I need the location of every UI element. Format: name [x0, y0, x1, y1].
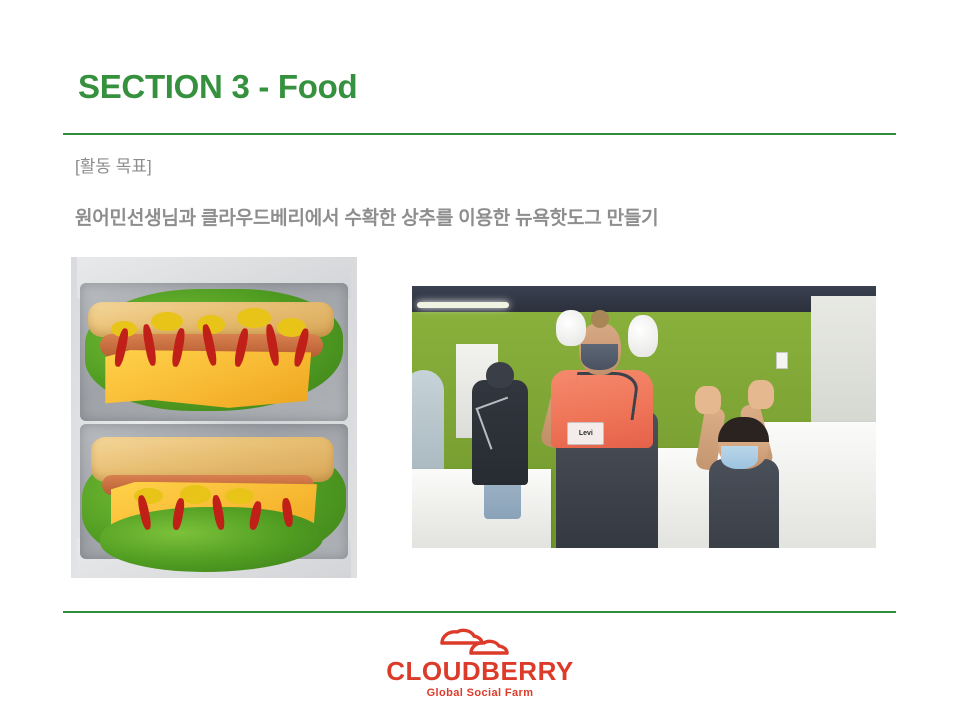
classroom-photo: Levi [412, 286, 876, 548]
instructor-hair-bun [591, 310, 610, 328]
child-hand-left [695, 386, 721, 415]
light-switch [776, 352, 787, 370]
logo-wordmark: CLOUDBERRY [386, 658, 573, 684]
mustard-dollop [151, 312, 182, 331]
background-person-head [486, 362, 514, 388]
child-body [709, 459, 779, 548]
glove-right [628, 315, 658, 357]
child-hand-right [748, 380, 774, 409]
apron-strap [571, 372, 641, 420]
arched-panel [412, 370, 444, 480]
cloud-icon [438, 628, 522, 656]
glove-left [556, 310, 586, 347]
slide-canvas: SECTION 3 - Food [활동 목표] 원어민선생님과 클라우드베리에… [0, 0, 960, 720]
cloudberry-logo: CLOUDBERRY Global Social Farm [0, 628, 960, 699]
divider-top [63, 133, 896, 135]
child-face-mask [721, 446, 758, 470]
name-tag: Levi [567, 422, 604, 445]
goal-label: [활동 목표] [75, 152, 152, 177]
instructor-face-mask [581, 344, 618, 370]
divider-bottom [63, 611, 896, 613]
page-title: SECTION 3 - Food [78, 68, 357, 106]
ceiling [412, 286, 876, 312]
logo-tagline: Global Social Farm [427, 688, 534, 699]
wall-panel-right [811, 296, 876, 432]
hotdog-photo [71, 257, 357, 578]
ceiling-light [417, 302, 510, 309]
goal-description: 원어민선생님과 클라우드베리에서 수확한 상추를 이용한 뉴욕핫도그 만들기 [75, 203, 658, 230]
name-tag-text: Levi [579, 430, 593, 437]
